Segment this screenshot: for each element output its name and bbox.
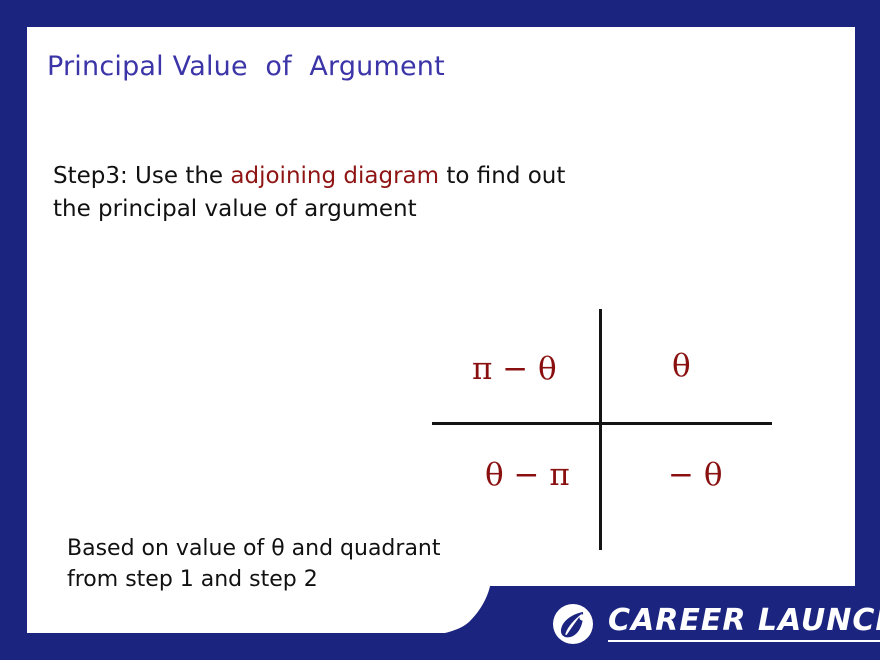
- vertical-axis-line: [599, 309, 602, 550]
- quadrant-2-label: π − θ: [472, 354, 557, 385]
- quadrant-3-label: θ − π: [485, 460, 570, 491]
- step-text-block: Step3: Use the adjoining diagram to find…: [53, 160, 573, 226]
- quadrant-4-label: − θ: [668, 460, 723, 491]
- step-text-highlight: adjoining diagram: [230, 163, 439, 189]
- footer-note-line-1: Based on value of θ and quadrant: [67, 533, 537, 564]
- brand-logo: CAREER LAUNCHER: [552, 600, 880, 648]
- quadrant-diagram: θ π − θ θ − π − θ: [430, 305, 775, 553]
- slide-canvas: Principal Value of Argument Step3: Use t…: [0, 0, 880, 660]
- leaf-circle-icon: [552, 603, 594, 645]
- brand-logo-text: CAREER LAUNCHER: [608, 606, 880, 642]
- quadrant-1-label: θ: [672, 351, 691, 382]
- step-text-lead: Step3: Use the: [53, 163, 230, 189]
- page-title: Principal Value of Argument: [47, 51, 445, 82]
- horizontal-axis-line: [432, 422, 772, 425]
